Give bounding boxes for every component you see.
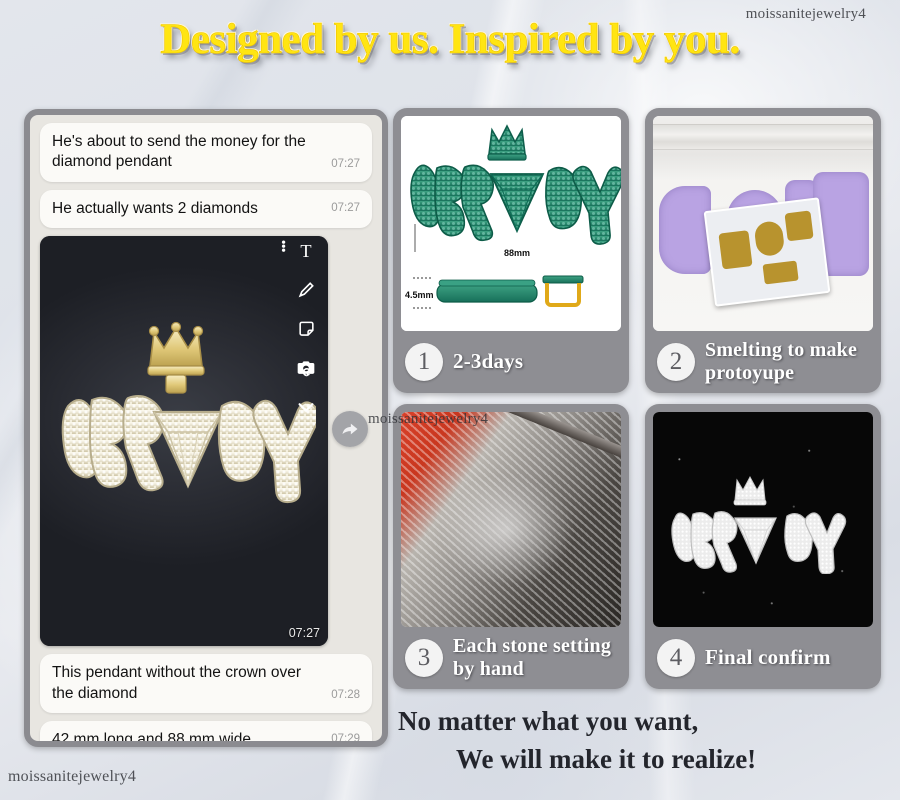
step-number-badge: 1 bbox=[405, 343, 443, 381]
step-label: 2-3days bbox=[453, 350, 523, 374]
sticker-icon[interactable] bbox=[295, 318, 317, 340]
diamond-icon bbox=[154, 412, 222, 486]
final-pendant-media bbox=[653, 412, 873, 627]
step-label: Smelting to make protoyupe bbox=[705, 339, 869, 384]
pendant-artwork bbox=[54, 314, 316, 524]
watermark-bottom-left: moissanitejewelry4 bbox=[8, 768, 136, 786]
setting-tool-icon bbox=[484, 412, 621, 459]
molds-photo bbox=[653, 116, 873, 331]
step-number-badge: 3 bbox=[405, 639, 443, 677]
chat-message-time: 07:29 bbox=[331, 732, 360, 747]
mold-letter-d bbox=[659, 186, 711, 274]
chat-message-time: 07:28 bbox=[331, 688, 360, 704]
stone-setting-photo bbox=[401, 412, 621, 627]
step-card-4-footer: 4 Final confirm bbox=[653, 627, 873, 689]
tagline: No matter what you want, We will make it… bbox=[398, 702, 898, 779]
cad-crown bbox=[488, 126, 526, 160]
tagline-line-2: We will make it to realize! bbox=[398, 740, 898, 778]
promo-banner: moissanitejewelry4 moissanitejewelry4 De… bbox=[0, 0, 900, 800]
svg-text:T: T bbox=[300, 241, 311, 261]
tagline-line-1: No matter what you want, bbox=[398, 706, 698, 736]
pencil-icon[interactable] bbox=[295, 279, 317, 301]
cad-thickness-label: 4.5mm bbox=[405, 290, 434, 300]
camera-rotate-icon[interactable] bbox=[295, 357, 317, 379]
chat-message-text: He's about to send the money for the dia… bbox=[52, 132, 323, 173]
share-forward-icon[interactable] bbox=[332, 411, 368, 447]
chat-message-text: He actually wants 2 diamonds bbox=[52, 199, 323, 219]
step-number-badge: 4 bbox=[657, 639, 695, 677]
chat-message-2: He actually wants 2 diamonds 07:27 bbox=[40, 190, 372, 228]
crown-icon bbox=[148, 323, 204, 394]
final-crown-icon bbox=[734, 477, 766, 505]
watermark-center: moissanitejewelry4 bbox=[368, 411, 488, 428]
step-card-1[interactable]: 88mm 4.5mm 1 2-3days bbox=[393, 108, 629, 393]
final-diamond-icon bbox=[735, 518, 776, 563]
final-pendant-artwork bbox=[669, 474, 857, 574]
step-card-3[interactable]: 3 Each stone setting by hand bbox=[393, 404, 629, 689]
chat-message-5: 42 mm long and 88 mm wide 07:29 bbox=[40, 721, 372, 747]
cad-width-label: 88mm bbox=[504, 248, 530, 258]
step-card-1-footer: 1 2-3days bbox=[401, 331, 621, 393]
step-label: Each stone setting by hand bbox=[453, 635, 617, 680]
chat-message-text: 42 mm long and 88 mm wide bbox=[52, 730, 323, 747]
chat-message-4: This pendant without the crown over the … bbox=[40, 654, 372, 713]
mold-reference-card bbox=[704, 197, 831, 306]
cad-canvas: 88mm 4.5mm bbox=[401, 116, 621, 331]
stone-setting-media bbox=[401, 412, 621, 627]
chat-photo-message[interactable]: ••• T bbox=[40, 236, 328, 646]
zip-bag-strip bbox=[653, 124, 873, 150]
step-card-2-footer: 2 Smelting to make protoyupe bbox=[653, 331, 873, 393]
step-card-2[interactable]: 2 Smelting to make protoyupe bbox=[645, 108, 881, 393]
cad-diamond bbox=[491, 174, 543, 231]
page-title: Designed by us. Inspired by you. bbox=[0, 16, 900, 63]
step-label: Final confirm bbox=[705, 646, 831, 670]
step-number-badge: 2 bbox=[657, 343, 695, 381]
chat-message-1: He's about to send the money for the dia… bbox=[40, 123, 372, 182]
chat-message-text: This pendant without the crown over the … bbox=[52, 663, 323, 704]
chat-message-time: 07:27 bbox=[331, 201, 360, 217]
cad-side-view bbox=[413, 224, 583, 308]
letters-br bbox=[63, 396, 164, 490]
photo-timestamp: 07:27 bbox=[289, 626, 320, 640]
chat-message-time: 07:27 bbox=[331, 157, 360, 173]
cad-design-media: 88mm 4.5mm bbox=[401, 116, 621, 331]
step-card-4[interactable]: 4 Final confirm bbox=[645, 404, 881, 689]
text-tool-icon[interactable]: T bbox=[295, 240, 317, 262]
chevron-down-icon[interactable] bbox=[295, 396, 317, 418]
silicone-molds-media bbox=[653, 116, 873, 331]
photo-toolbar: T bbox=[288, 240, 324, 418]
more-vertical-icon[interactable]: ••• bbox=[281, 242, 286, 254]
step-card-3-footer: 3 Each stone setting by hand bbox=[401, 627, 621, 689]
